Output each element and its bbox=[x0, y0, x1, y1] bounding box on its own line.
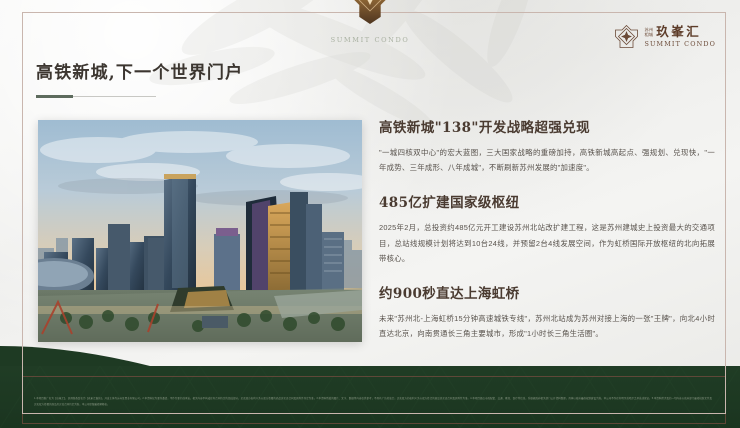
footer-brand-name: SUMMIT CONDO bbox=[0, 36, 740, 400]
diamond-emblem-icon bbox=[352, 0, 388, 24]
poster-page: 苏州 相城 玖峯汇 SUMMIT CONDO 高铁新城,下一个世界门户 bbox=[0, 0, 740, 428]
